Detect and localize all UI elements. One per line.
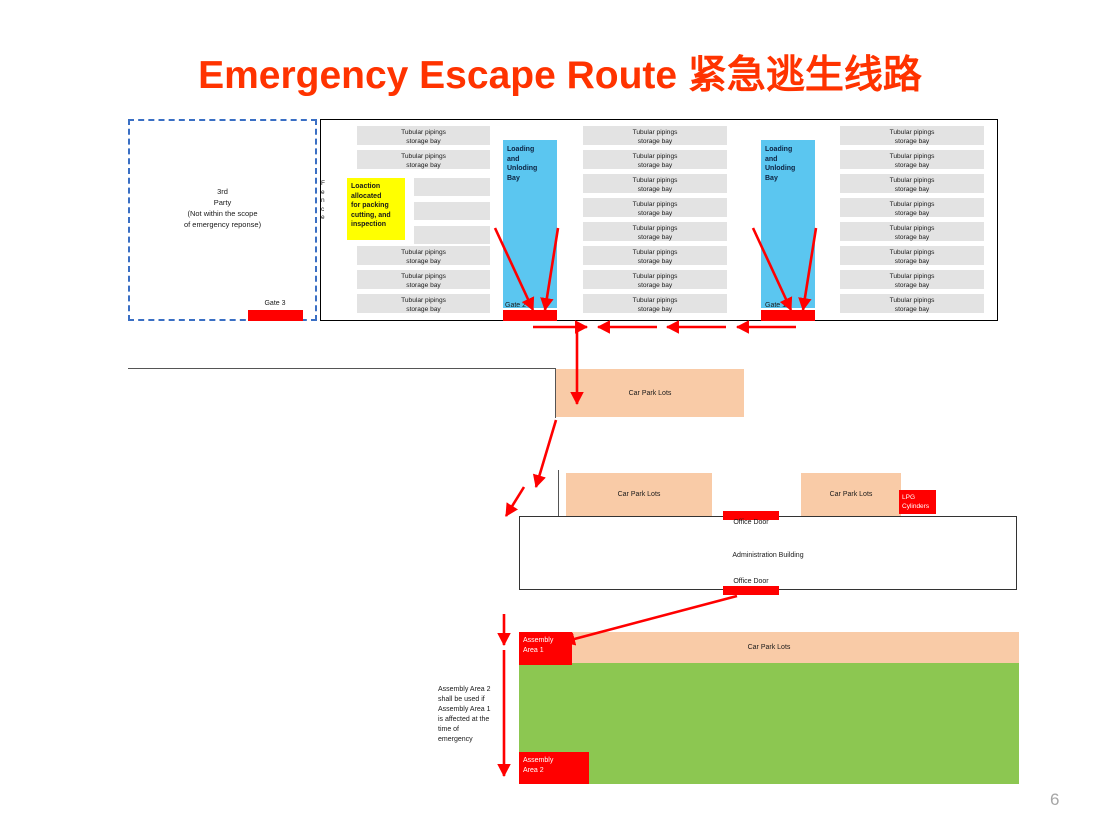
loading-bay-line-2: Unloding bbox=[507, 164, 557, 174]
storage-bay: Tubular pipings storage bay bbox=[840, 198, 984, 217]
loading-bay-line-3: Bay bbox=[765, 174, 815, 184]
bay-line-1: Tubular pipings bbox=[840, 273, 984, 282]
assembly-note-line-4: time of bbox=[438, 725, 520, 735]
storage-bay: Tubular pipings storage bay bbox=[357, 246, 490, 265]
assembly-area-2: Assembly Area 2 bbox=[519, 752, 589, 784]
bay-line-2: storage bay bbox=[583, 282, 727, 291]
bay-line-2: storage bay bbox=[583, 234, 727, 243]
loading-bay-line-0: Loading bbox=[507, 145, 557, 155]
gate-1-label: Gate 1 bbox=[761, 302, 815, 309]
car-park-label: Car Park Lots bbox=[618, 491, 661, 498]
bay-line-2: storage bay bbox=[840, 282, 984, 291]
storage-bay: Tubular pipings storage bay bbox=[840, 246, 984, 265]
storage-bay: Tubular pipings storage bay bbox=[583, 198, 727, 217]
office-door-top-label: Office Door bbox=[715, 519, 787, 526]
gate-3-block[interactable] bbox=[248, 310, 303, 321]
car-park-lot-1: Car Park Lots bbox=[556, 369, 744, 417]
storage-bay: Tubular pipings storage bay bbox=[583, 150, 727, 169]
lpg-line-1: LPG bbox=[902, 493, 936, 502]
bay-line-2: storage bay bbox=[840, 306, 984, 315]
loading-bay-line-3: Bay bbox=[507, 174, 557, 184]
loading-bay-line-2: Unloding bbox=[765, 164, 815, 174]
green-field-area bbox=[519, 663, 1019, 784]
fence-letter-2: n bbox=[321, 197, 333, 206]
bay-line-2: storage bay bbox=[840, 258, 984, 267]
bay-line-2: storage bay bbox=[357, 162, 490, 171]
bay-line-2: storage bay bbox=[583, 138, 727, 147]
fence-letter-0: F bbox=[321, 180, 333, 189]
bay-line-1: Tubular pipings bbox=[357, 129, 490, 138]
car-park-lot-2: Car Park Lots bbox=[566, 473, 712, 516]
storage-bay: Tubular pipings storage bay bbox=[357, 294, 490, 313]
arrow-diagonal-2 bbox=[506, 487, 524, 516]
bay-line-1: Tubular pipings bbox=[583, 129, 727, 138]
third-party-line-2: Party bbox=[128, 197, 317, 208]
assembly-2-line-2: Area 2 bbox=[523, 766, 589, 776]
loading-bay-line-1: and bbox=[765, 155, 815, 165]
gate-2-block[interactable] bbox=[503, 310, 557, 321]
slide-canvas: Emergency Escape Route 紧急逃生线路 3rd Party … bbox=[0, 0, 1120, 840]
storage-bay: Tubular pipings storage bay bbox=[840, 126, 984, 145]
storage-bay: Tubular pipings storage bay bbox=[583, 222, 727, 241]
page-title: Emergency Escape Route 紧急逃生线路 bbox=[0, 44, 1120, 100]
assembly-note-line-5: emergency bbox=[438, 735, 520, 745]
car-park-lot-3: Car Park Lots bbox=[801, 473, 901, 516]
bay-line-2: storage bay bbox=[840, 138, 984, 147]
assembly-area-note: Assembly Area 2 shall be used if Assembl… bbox=[438, 685, 520, 745]
storage-bay: Tubular pipings storage bay bbox=[840, 222, 984, 241]
storage-bay: Tubular pipings storage bay bbox=[840, 150, 984, 169]
third-party-label: 3rd Party (Not within the scope of emerg… bbox=[128, 186, 317, 230]
yellow-line-4: inspection bbox=[351, 220, 405, 230]
gate-1-block[interactable] bbox=[761, 310, 815, 321]
bay-line-2: storage bay bbox=[583, 258, 727, 267]
bay-line-2: storage bay bbox=[840, 162, 984, 171]
storage-bay: Tubular pipings storage bay bbox=[583, 126, 727, 145]
bay-line-1: Tubular pipings bbox=[583, 153, 727, 162]
bay-line-1: Tubular pipings bbox=[840, 225, 984, 234]
storage-bay: Tubular pipings storage bay bbox=[357, 270, 490, 289]
loading-unloading-bay-2: Loading and Unloding Bay bbox=[503, 140, 557, 308]
bay-line-1: Tubular pipings bbox=[583, 201, 727, 210]
lpg-cylinders-store: LPG Cylinders bbox=[899, 490, 936, 514]
assembly-note-line-2: Assembly Area 1 bbox=[438, 705, 520, 715]
bay-line-1: Tubular pipings bbox=[583, 249, 727, 258]
packing-cutting-inspection-area: Loaction allocated for packing cutting, … bbox=[347, 178, 405, 240]
office-door-bottom-block[interactable] bbox=[723, 586, 779, 595]
loading-bay-line-0: Loading bbox=[765, 145, 815, 155]
road-boundary-line-1 bbox=[128, 368, 556, 369]
third-party-line-3: (Not within the scope bbox=[128, 208, 317, 219]
assembly-1-line-1: Assembly bbox=[523, 636, 572, 646]
storage-bay: Tubular pipings storage bay bbox=[357, 126, 490, 145]
storage-bay-empty bbox=[414, 178, 490, 196]
storage-bay: Tubular pipings storage bay bbox=[583, 270, 727, 289]
bay-line-1: Tubular pipings bbox=[840, 177, 984, 186]
bay-line-1: Tubular pipings bbox=[840, 297, 984, 306]
fence-letter-4: e bbox=[321, 214, 333, 223]
car-park-lot-4: Car Park Lots bbox=[519, 632, 1019, 663]
storage-bay-empty bbox=[414, 202, 490, 220]
assembly-2-line-1: Assembly bbox=[523, 756, 589, 766]
office-door-bottom-label: Office Door bbox=[715, 578, 787, 585]
bay-line-2: storage bay bbox=[357, 258, 490, 267]
lpg-line-2: Cylinders bbox=[902, 502, 936, 511]
bay-line-1: Tubular pipings bbox=[583, 297, 727, 306]
bay-line-2: storage bay bbox=[840, 186, 984, 195]
storage-bay: Tubular pipings storage bay bbox=[583, 174, 727, 193]
bay-line-2: storage bay bbox=[583, 162, 727, 171]
bay-line-1: Tubular pipings bbox=[583, 225, 727, 234]
assembly-area-1: Assembly Area 1 bbox=[519, 632, 572, 665]
bay-line-1: Tubular pipings bbox=[840, 249, 984, 258]
yellow-line-0: Loaction bbox=[351, 182, 405, 192]
bay-line-1: Tubular pipings bbox=[357, 273, 490, 282]
fence-letter-3: c bbox=[321, 206, 333, 215]
administration-building-label: Administration Building bbox=[519, 552, 1017, 559]
third-party-line-1: 3rd bbox=[128, 186, 317, 197]
car-park-label: Car Park Lots bbox=[748, 644, 791, 651]
bay-line-2: storage bay bbox=[583, 306, 727, 315]
assembly-note-line-1: shall be used if bbox=[438, 695, 520, 705]
bay-line-2: storage bay bbox=[357, 138, 490, 147]
bay-line-1: Tubular pipings bbox=[840, 129, 984, 138]
yellow-line-2: for packing bbox=[351, 201, 405, 211]
bay-line-1: Tubular pipings bbox=[357, 249, 490, 258]
storage-bay: Tubular pipings storage bay bbox=[583, 246, 727, 265]
yellow-line-3: cutting, and bbox=[351, 211, 405, 221]
page-number: 6 bbox=[1050, 790, 1059, 810]
bay-line-1: Tubular pipings bbox=[357, 153, 490, 162]
loading-bay-line-1: and bbox=[507, 155, 557, 165]
loading-unloading-bay-1: Loading and Unloding Bay bbox=[761, 140, 815, 308]
storage-bay: Tubular pipings storage bay bbox=[583, 294, 727, 313]
bay-line-1: Tubular pipings bbox=[583, 273, 727, 282]
bay-line-1: Tubular pipings bbox=[840, 153, 984, 162]
assembly-1-line-2: Area 1 bbox=[523, 646, 572, 656]
gate-2-label: Gate 2 bbox=[503, 302, 557, 309]
arrow-diagonal-1 bbox=[536, 420, 556, 487]
storage-bay: Tubular pipings storage bay bbox=[357, 150, 490, 169]
fence-label: F e n c e bbox=[321, 180, 333, 223]
storage-bay: Tubular pipings storage bay bbox=[840, 270, 984, 289]
storage-bay: Tubular pipings storage bay bbox=[840, 174, 984, 193]
road-boundary-vline-2 bbox=[558, 470, 559, 517]
bay-line-2: storage bay bbox=[357, 282, 490, 291]
bay-line-2: storage bay bbox=[357, 306, 490, 315]
bay-line-1: Tubular pipings bbox=[840, 201, 984, 210]
assembly-note-line-0: Assembly Area 2 bbox=[438, 685, 520, 695]
bay-line-2: storage bay bbox=[583, 210, 727, 219]
assembly-note-line-3: is affected at the bbox=[438, 715, 520, 725]
bay-line-2: storage bay bbox=[840, 210, 984, 219]
bay-line-2: storage bay bbox=[583, 186, 727, 195]
car-park-label: Car Park Lots bbox=[629, 390, 672, 397]
storage-bay: Tubular pipings storage bay bbox=[840, 294, 984, 313]
bay-line-1: Tubular pipings bbox=[583, 177, 727, 186]
bay-line-2: storage bay bbox=[840, 234, 984, 243]
gate-3-label: Gate 3 bbox=[239, 300, 311, 307]
car-park-label: Car Park Lots bbox=[830, 491, 873, 498]
storage-bay-empty bbox=[414, 226, 490, 244]
fence-letter-1: e bbox=[321, 189, 333, 198]
bay-line-1: Tubular pipings bbox=[357, 297, 490, 306]
third-party-line-4: of emergency reponse) bbox=[128, 219, 317, 230]
yellow-line-1: allocated bbox=[351, 192, 405, 202]
